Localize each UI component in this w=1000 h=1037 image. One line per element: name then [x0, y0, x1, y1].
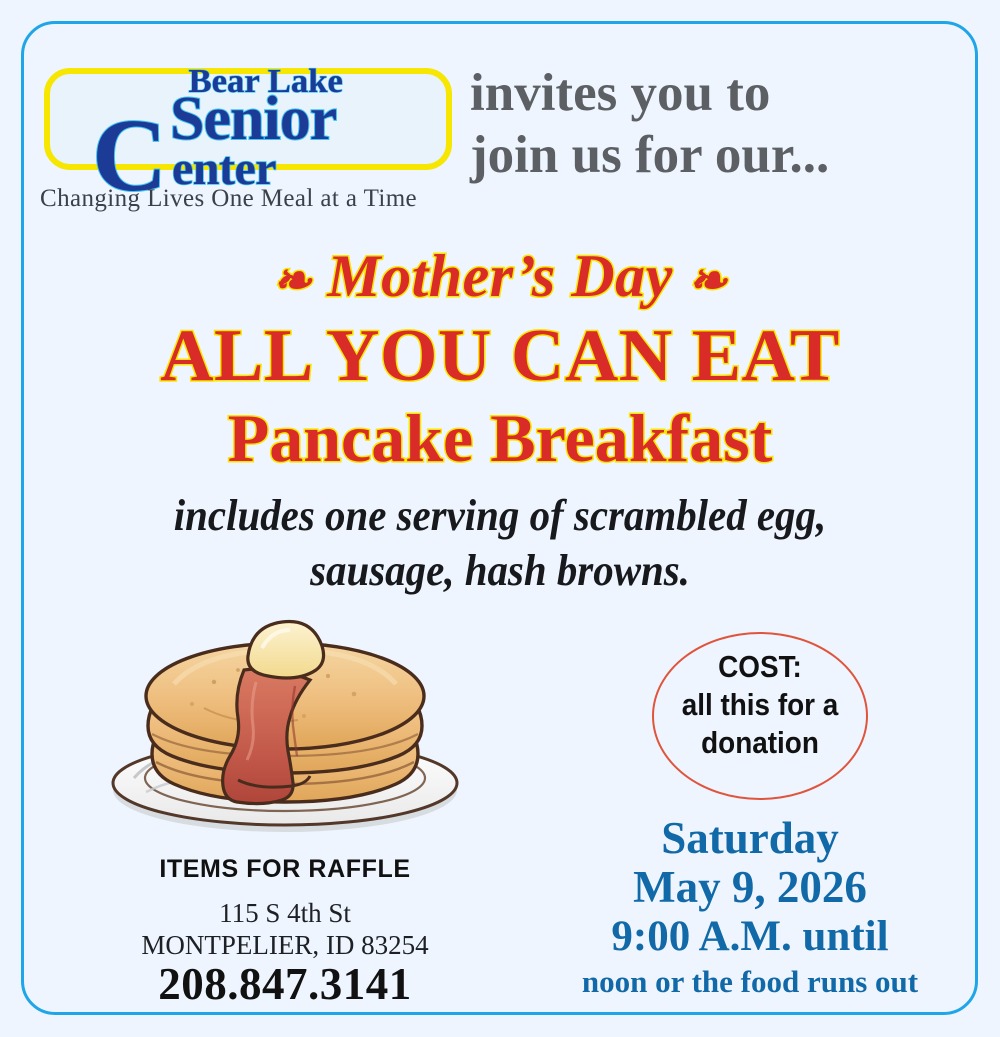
event-day: Saturday	[535, 815, 965, 862]
logo-tagline: Changing Lives One Meal at a Time	[40, 185, 417, 213]
pancake-stack-icon	[96, 612, 474, 837]
address-street: 115 S 4th St	[60, 897, 510, 929]
senior-center-logo: Bear Lake C Senior enter	[44, 60, 456, 178]
invitation-line-1: invites you to	[470, 62, 970, 124]
flyer-canvas: Bear Lake C Senior enter Changing Lives …	[0, 0, 1000, 1037]
headline-all-you-can-eat: ALL YOU CAN EAT	[0, 314, 1000, 398]
meal-description: includes one serving of scrambled egg, s…	[35, 488, 965, 598]
cost-callout: COST: all this for a donation	[663, 648, 857, 762]
meal-description-line-1: includes one serving of scrambled egg,	[35, 488, 965, 543]
event-date: May 9, 2026	[535, 862, 965, 912]
headline-pancake-breakfast: Pancake Breakfast	[0, 398, 1000, 478]
invitation-line-2: join us for our...	[470, 124, 970, 186]
ornament-left-icon: ❧	[273, 255, 312, 306]
logo-yellow-box	[44, 68, 452, 170]
address-city-state-zip: MONTPELIER, ID 83254	[60, 929, 510, 961]
cost-line-2: all this for a	[663, 686, 857, 724]
event-date-time-block: Saturday May 9, 2026 9:00 A.M. until noo…	[535, 815, 965, 1002]
venue-address: 115 S 4th St MONTPELIER, ID 83254	[60, 897, 510, 961]
cost-line-3: donation	[663, 724, 857, 762]
headline-mothers-day-label: Mother’s Day	[327, 243, 672, 309]
invitation-text: invites you to join us for our...	[470, 62, 970, 186]
ornament-right-icon: ❧	[688, 255, 727, 306]
raffle-heading: ITEMS FOR RAFFLE	[60, 855, 510, 884]
meal-description-line-2: sausage, hash browns.	[35, 543, 965, 598]
headline-mothers-day: ❧ Mother’s Day ❧	[0, 243, 1000, 314]
event-headline: ❧ Mother’s Day ❧ ALL YOU CAN EAT Pancake…	[0, 243, 1000, 478]
event-start-time: 9:00 A.M. until	[535, 912, 965, 962]
contact-phone-number[interactable]: 208.847.3141	[60, 958, 510, 1010]
cost-label: COST:	[663, 648, 857, 686]
event-end-note: noon or the food runs out	[535, 962, 965, 1002]
